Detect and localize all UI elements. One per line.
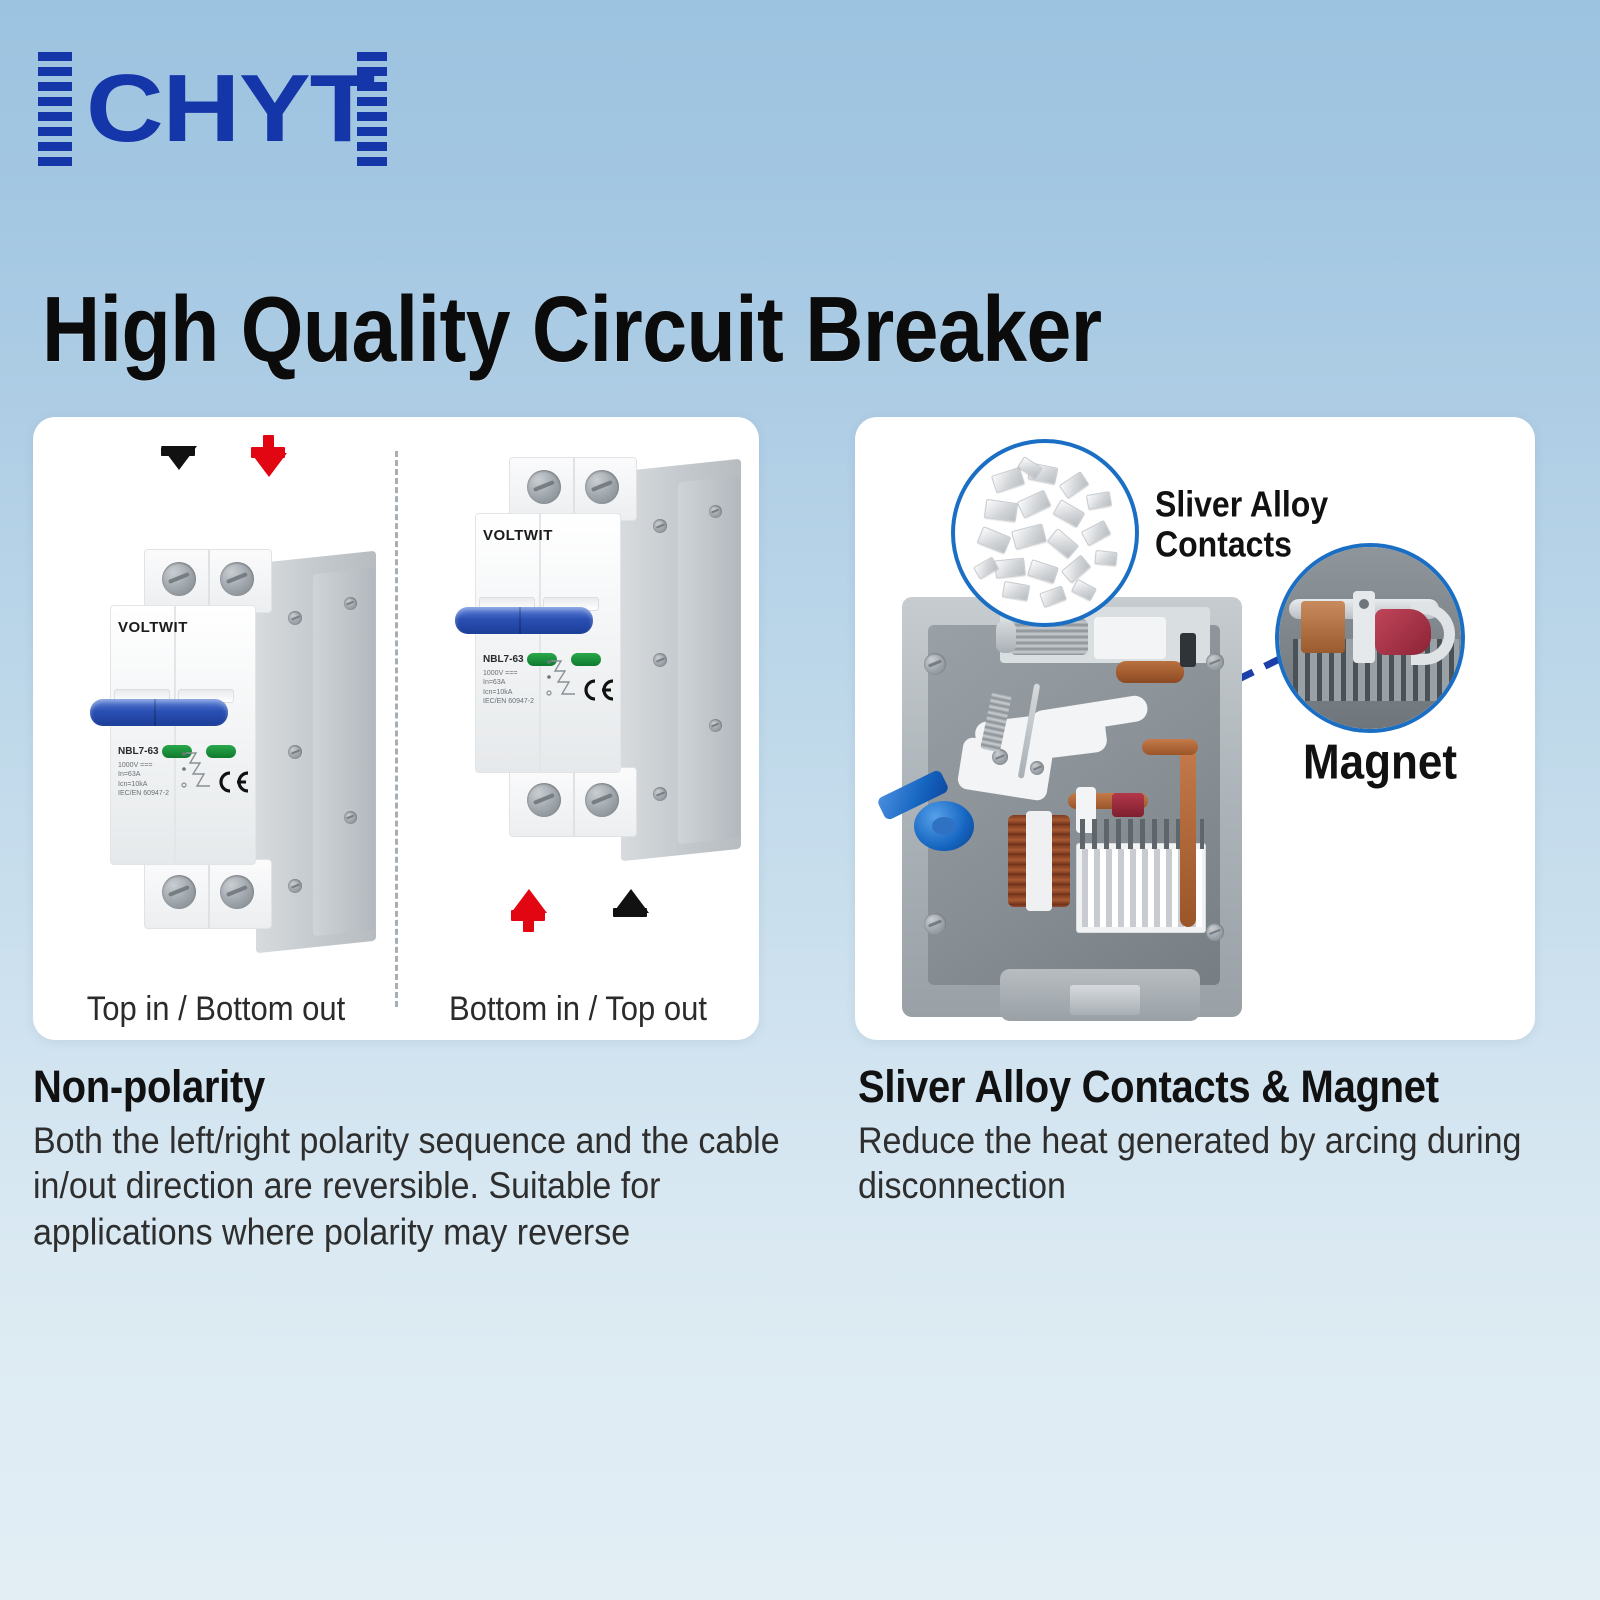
logo-bars-left [38, 52, 72, 166]
side-screw [709, 719, 722, 732]
breaker-model-label: NBL7-63 [483, 654, 524, 665]
side-screw [653, 653, 667, 667]
terminal-screw-bottom-right [220, 875, 254, 909]
up-arrow-black-icon [613, 872, 647, 890]
caption-bottom-in-top-out: Bottom in / Top out [423, 989, 733, 1029]
silver-alloy-chip [1071, 579, 1097, 602]
spec-line: 1000V === [118, 761, 172, 770]
copper-braid-top [1116, 661, 1184, 683]
silver-alloy-chip [1011, 523, 1047, 550]
logo-bar [38, 112, 72, 121]
polarity-mark-b-right [613, 872, 647, 917]
polarity-mark-b-left [511, 872, 545, 932]
side-screw [288, 745, 302, 759]
silver-alloy-chip [1047, 528, 1079, 559]
mount-screw [924, 653, 946, 675]
terminal-screw-top-left [527, 470, 561, 504]
terminal-screw-bottom-left [162, 875, 196, 909]
logo-bar [38, 157, 72, 166]
silver-alloy-chip [994, 557, 1026, 578]
silver-alloy-chip [1086, 491, 1112, 510]
side-screw [288, 611, 302, 625]
logo-wordmark: CHYT [86, 65, 374, 153]
breaker-spec-text: 1000V ===In=63AIcn=10kAIEC/EN 60947-2 [483, 669, 537, 707]
side-screw [709, 505, 722, 518]
contacts-magnet-card: Sliver Alloy Contacts Magnet [855, 417, 1535, 1040]
breaker-cutaway [880, 597, 1260, 1027]
logo-bar [38, 52, 72, 61]
brand-logo: CHYT [38, 52, 387, 166]
breaker-spec-text: 1000V ===In=63AIcn=10kAIEC/EN 60947-2 [118, 761, 172, 799]
feature-body: Both the left/right polarity sequence an… [33, 1119, 823, 1256]
breaker-lever[interactable] [90, 699, 228, 726]
silver-alloy-chip [1039, 585, 1067, 607]
caption-top-in-bottom-out: Top in / Bottom out [61, 989, 371, 1029]
silver-alloy-chip [1081, 520, 1111, 546]
breaker-brand-label: VOLTWIT [118, 619, 188, 636]
logo-bar [38, 67, 72, 76]
terminal-screw-bottom-right [585, 783, 619, 817]
spec-line: Icn=10kA [483, 688, 537, 697]
breaker-brand-label: VOLTWIT [483, 527, 553, 544]
spec-line: In=63A [118, 770, 172, 779]
silver-alloy-chip [1017, 490, 1052, 519]
wiring-schematic-icon [545, 657, 585, 701]
terminal-screw-top-left [162, 562, 196, 596]
logo-bar [38, 127, 72, 136]
polarity-mark-a-right [251, 435, 285, 495]
terminal-post [1180, 633, 1196, 667]
side-screw [344, 597, 357, 610]
polarity-mark-a-left [161, 447, 195, 488]
logo-bar [38, 97, 72, 106]
copper-conductor [1180, 747, 1196, 927]
feature-contacts-magnet: Sliver Alloy Contacts & Magnet Reduce th… [858, 1062, 1538, 1202]
callout-label-magnet: Magnet [1303, 735, 1457, 790]
plus-symbol [511, 898, 545, 932]
side-screw [653, 787, 667, 801]
silver-alloy-chip [1094, 550, 1117, 566]
side-screw [288, 879, 302, 893]
mount-screw [1206, 923, 1224, 941]
wiring-schematic-icon [180, 749, 220, 793]
breaker-unit-b: VOLTWIT NBL7-63 1000V ===In=63AIcn=10kAI… [453, 457, 753, 877]
feature-title: Sliver Alloy Contacts & Magnet [858, 1062, 1538, 1113]
logo-bar [38, 82, 72, 91]
breaker-front-face [110, 605, 256, 865]
down-arrow-red-icon [251, 477, 285, 495]
silver-alloy-chip [1027, 559, 1059, 584]
breaker-unit-a: VOLTWIT NBL7-63 1000V ===In=63AIcn=10kAI… [88, 549, 388, 969]
ce-mark-icon [581, 679, 617, 701]
side-screw [653, 519, 667, 533]
breaker-lever[interactable] [455, 607, 593, 634]
silver-alloy-chip [1002, 581, 1030, 601]
spec-line: IEC/EN 60947-2 [118, 789, 172, 798]
breaker-side-body-2 [313, 568, 375, 937]
bottom-terminal-screw [1070, 985, 1140, 1015]
panel-divider [395, 451, 398, 1007]
silver-alloy-chip [1059, 471, 1090, 499]
feature-non-polarity: Non-polarity Both the left/right polarit… [33, 1062, 823, 1243]
terminal-screw-top-right [220, 562, 254, 596]
non-polarity-card: VOLTWIT NBL7-63 1000V ===In=63AIcn=10kAI… [33, 417, 759, 1040]
breaker-model-label: NBL7-63 [118, 746, 159, 757]
spec-line: IEC/EN 60947-2 [483, 697, 537, 706]
ce-mark-icon [216, 771, 252, 793]
solenoid-core [996, 621, 1016, 653]
copper-conductor-bend [1142, 739, 1198, 755]
magnet-block [1112, 793, 1144, 817]
callout-sliver-alloy-contacts [951, 439, 1139, 627]
breaker-front-face [475, 513, 621, 773]
feature-title: Non-polarity [33, 1062, 823, 1113]
breaker-side-body-2 [678, 476, 740, 845]
spec-line: Icn=10kA [118, 780, 172, 789]
silver-alloy-chip [977, 526, 1012, 554]
terminal-screw-bottom-left [527, 783, 561, 817]
silver-alloy-chip [991, 467, 1025, 493]
trip-bar [1094, 617, 1166, 659]
coil-bobbin [1026, 811, 1052, 911]
down-arrow-black-icon [161, 470, 195, 488]
terminal-screw-top-right [585, 470, 619, 504]
pivot-pin [1030, 761, 1044, 775]
mount-screw [924, 913, 946, 935]
silver-alloy-chip [984, 499, 1018, 522]
callout-contacts-line1: Sliver Alloy [1155, 485, 1328, 525]
callout-magnet [1275, 543, 1465, 733]
side-screw [344, 811, 357, 824]
mount-screw [1206, 653, 1224, 671]
logo-bar [38, 142, 72, 151]
spec-line: In=63A [483, 678, 537, 687]
feature-body: Reduce the heat generated by arcing duri… [858, 1119, 1538, 1210]
spec-line: 1000V === [483, 669, 537, 678]
page-title: High Quality Circuit Breaker [42, 284, 1102, 377]
silver-alloy-chip [1053, 499, 1086, 528]
up-arrow-red-icon [511, 872, 545, 890]
